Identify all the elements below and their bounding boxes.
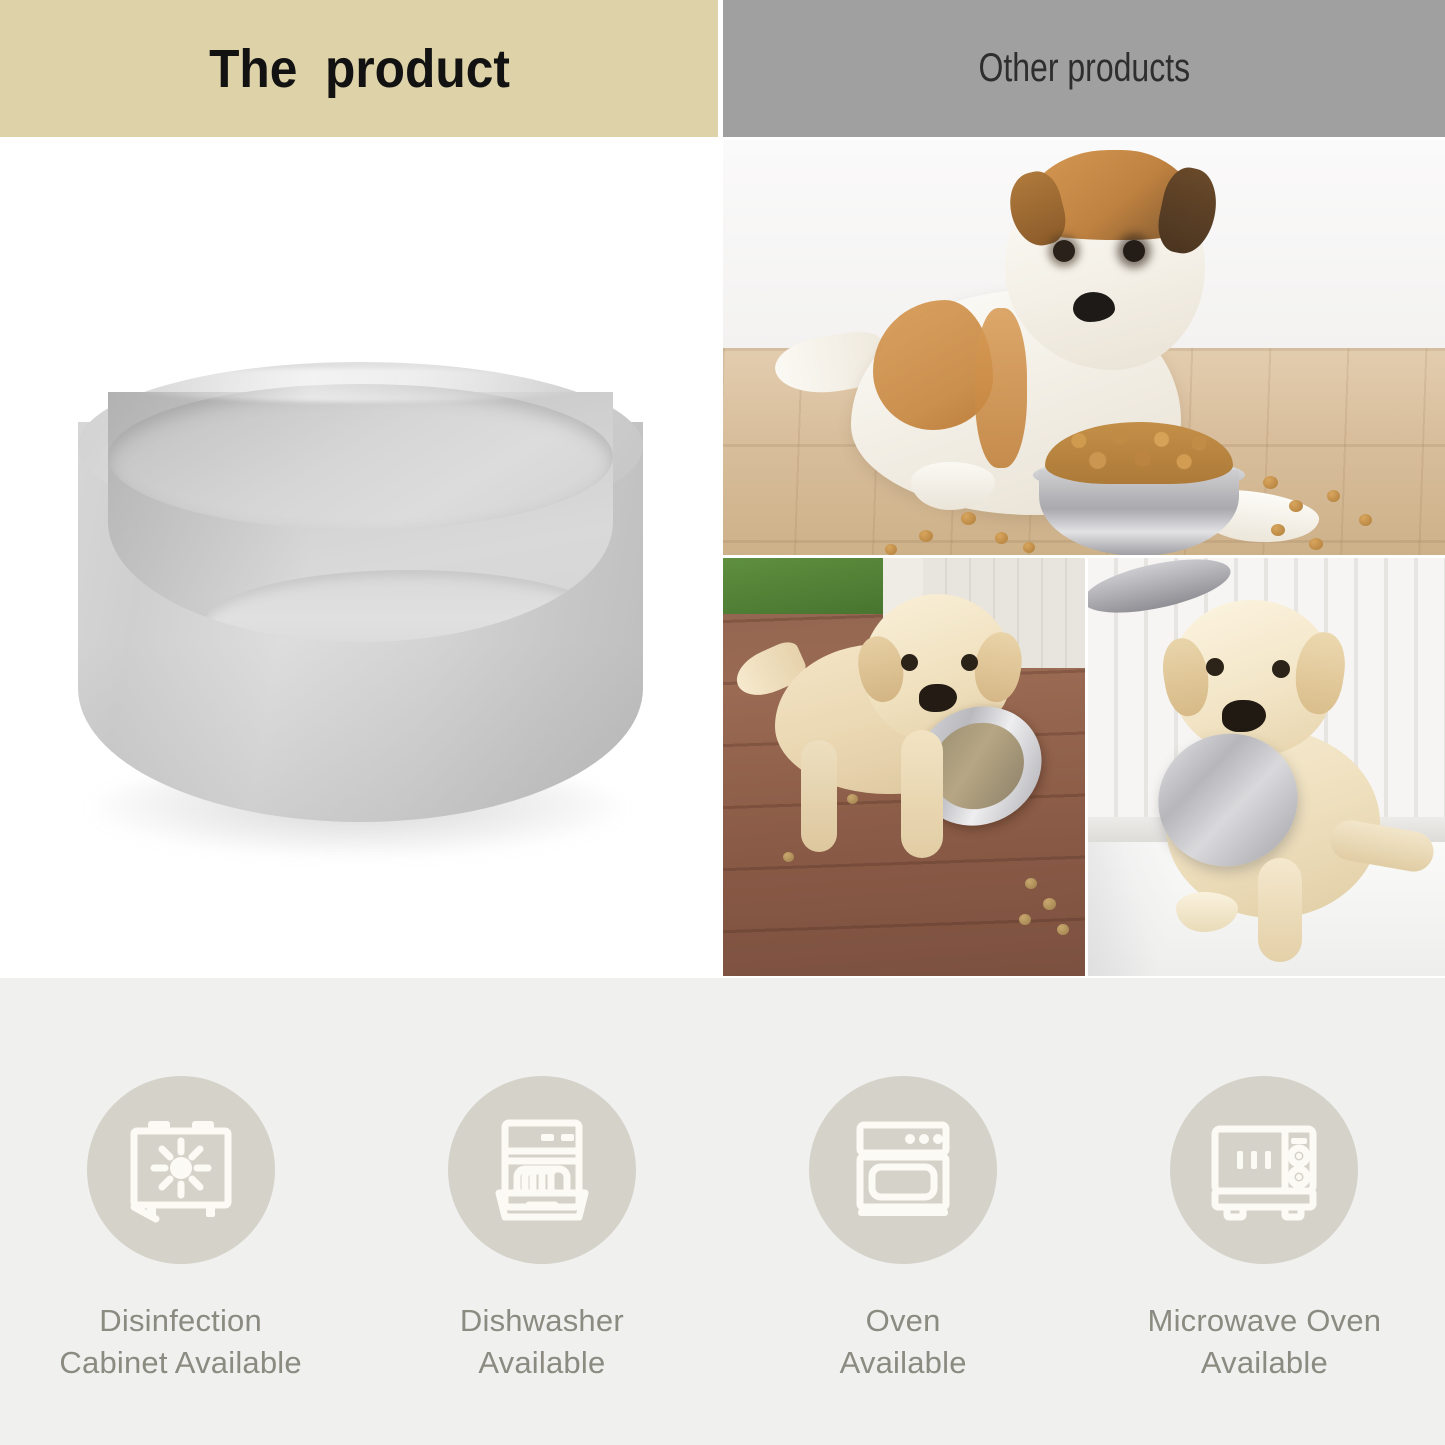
photo1-kibble-piece <box>1271 524 1285 536</box>
product-photo-panel <box>0 137 718 975</box>
photo1-kibble-piece <box>1023 542 1035 553</box>
photo2-puppy-eye-left <box>901 654 918 671</box>
photo1-kibble-piece <box>1263 476 1278 489</box>
photo2-kibble-piece <box>1019 914 1031 925</box>
photo1-kibble-piece <box>995 532 1008 544</box>
disinfection-cabinet-icon <box>122 1111 240 1229</box>
photo-terrier-with-stainless-bowl <box>723 140 1445 555</box>
photo2-puppy-eye-right <box>961 654 978 671</box>
photo1-kibble-piece <box>885 544 897 555</box>
header-left-the-product: The product <box>0 0 718 137</box>
feature-icon-circle <box>1170 1076 1358 1264</box>
feature-label: Disinfection Cabinet Available <box>59 1300 301 1383</box>
dishwasher-icon <box>483 1111 601 1229</box>
product-infographic: The product Other products <box>0 0 1445 1445</box>
photo1-kibble-piece <box>961 512 976 525</box>
photo-labrador-puppy-carrying-bowl <box>1088 558 1445 976</box>
photo1-dog-eye-left <box>1053 240 1075 262</box>
photo1-dog-tan-stripe <box>975 308 1027 468</box>
bowl-inner-floor <box>204 570 613 642</box>
feature-icon-circle <box>448 1076 636 1264</box>
photo1-dog-eye-right <box>1123 240 1145 262</box>
feature-microwave-oven: Microwave Oven Available <box>1084 978 1445 1383</box>
feature-icon-circle <box>87 1076 275 1264</box>
photo1-kibble-piece <box>1359 514 1372 526</box>
header-right-other-products: Other products <box>723 0 1445 137</box>
photo1-kibble-piece <box>1289 500 1303 512</box>
photo2-puppy-front-leg <box>901 730 943 858</box>
feature-dishwasher: Dishwasher Available <box>361 978 722 1383</box>
feature-disinfection-cabinet: Disinfection Cabinet Available <box>0 978 361 1383</box>
photo2-kibble-piece <box>1043 898 1056 910</box>
photo1-kibble-piece <box>1327 490 1340 502</box>
photo2-kibble-piece <box>847 794 858 804</box>
photo1-kibble-piece <box>919 530 933 542</box>
photo3-puppy-eye-left <box>1206 658 1224 676</box>
bowl-rim-highlight <box>120 368 600 402</box>
feature-label: Dishwasher Available <box>460 1300 624 1383</box>
oven-icon <box>844 1111 962 1229</box>
feature-label: Microwave Oven Available <box>1148 1300 1382 1383</box>
feature-oven: Oven Available <box>723 978 1084 1383</box>
photo2-kibble-piece <box>783 852 794 862</box>
feature-icon-circle <box>809 1076 997 1264</box>
photo2-kibble-piece <box>1025 878 1037 889</box>
photo1-kibble-piece <box>1309 538 1323 550</box>
photo2-puppy-back-leg <box>801 740 837 852</box>
header-right-title: Other products <box>978 46 1190 91</box>
header-left-title: The product <box>209 38 510 100</box>
bowl-inner-rim <box>108 384 613 530</box>
feature-label: Oven Available <box>840 1300 967 1383</box>
ceramic-pet-bowl-image <box>60 362 660 862</box>
other-products-photo-grid <box>723 140 1445 976</box>
microwave-oven-icon <box>1205 1111 1323 1229</box>
photo3-puppy-eye-right <box>1272 660 1290 678</box>
photo2-kibble-piece <box>1057 924 1069 935</box>
photo3-puppy-front-leg <box>1258 858 1302 962</box>
photo-golden-retriever-puppy-carrying-bowl <box>723 558 1085 976</box>
photo2-grass <box>723 558 883 614</box>
feature-bar: Disinfection Cabinet Available <box>0 978 1445 1445</box>
